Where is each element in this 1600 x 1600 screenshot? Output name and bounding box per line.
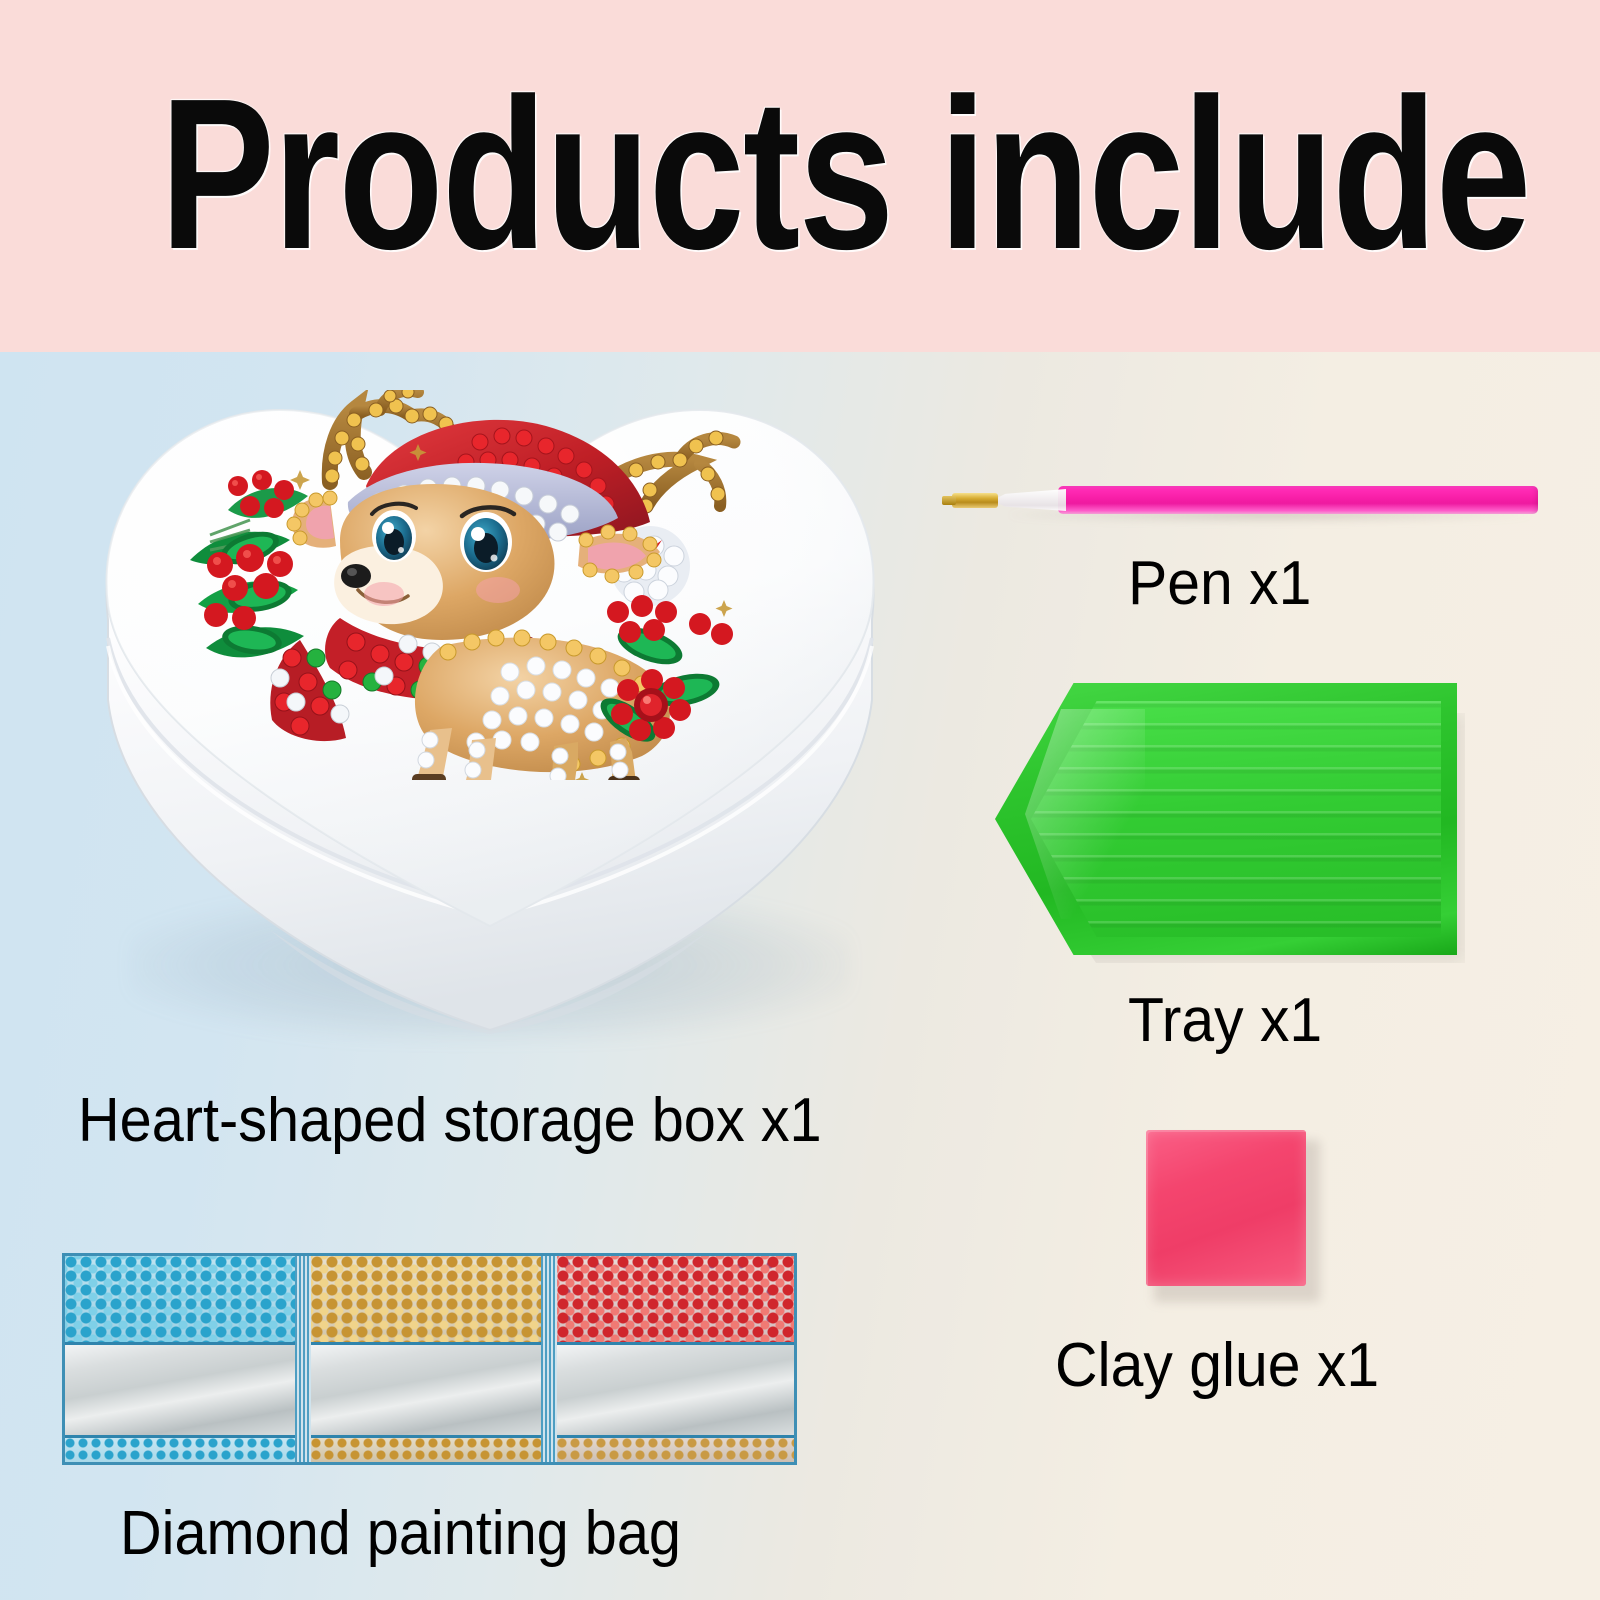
pen-nib-tip	[942, 496, 956, 505]
bag-zip-1	[295, 1256, 311, 1462]
foil-backing-blue	[65, 1342, 295, 1438]
bag-zip-2	[541, 1256, 557, 1462]
diamond-pen	[940, 478, 1560, 526]
page-title: Products include	[160, 74, 1440, 274]
deer-artwork	[180, 390, 800, 780]
drills-blue-bottom	[65, 1438, 295, 1462]
drill-tray	[995, 683, 1465, 965]
drills-blue	[65, 1256, 295, 1344]
heart-shaped-storage-box	[70, 370, 910, 1060]
bag-cell-blue	[65, 1256, 295, 1462]
foil-backing-red	[557, 1342, 794, 1438]
diamond-bag-label: Diamond painting bag	[120, 1498, 681, 1569]
drills-gold	[311, 1256, 541, 1344]
deer-head	[334, 484, 554, 640]
clay-glue	[1146, 1130, 1316, 1298]
pen-barrel	[1058, 486, 1538, 514]
infographic-canvas: Products include	[0, 0, 1600, 1600]
bag-cell-gold	[311, 1256, 541, 1462]
heart-box-label: Heart-shaped storage box x1	[78, 1085, 822, 1156]
foil-backing-gold	[311, 1342, 541, 1438]
header-band: Products include	[0, 0, 1600, 352]
pen-clear-section	[992, 489, 1066, 511]
drills-red-bottom	[557, 1438, 794, 1462]
pen-metal-nib	[952, 493, 998, 508]
diamond-painting-bag	[62, 1253, 797, 1465]
drills-red	[557, 1256, 794, 1344]
clay-square	[1146, 1130, 1306, 1286]
bag-cell-red	[557, 1256, 794, 1462]
pen-label: Pen x1	[1128, 548, 1311, 619]
clay-glue-label: Clay glue x1	[1055, 1330, 1379, 1401]
drills-gold-bottom	[311, 1438, 541, 1462]
tray-label: Tray x1	[1128, 985, 1322, 1056]
